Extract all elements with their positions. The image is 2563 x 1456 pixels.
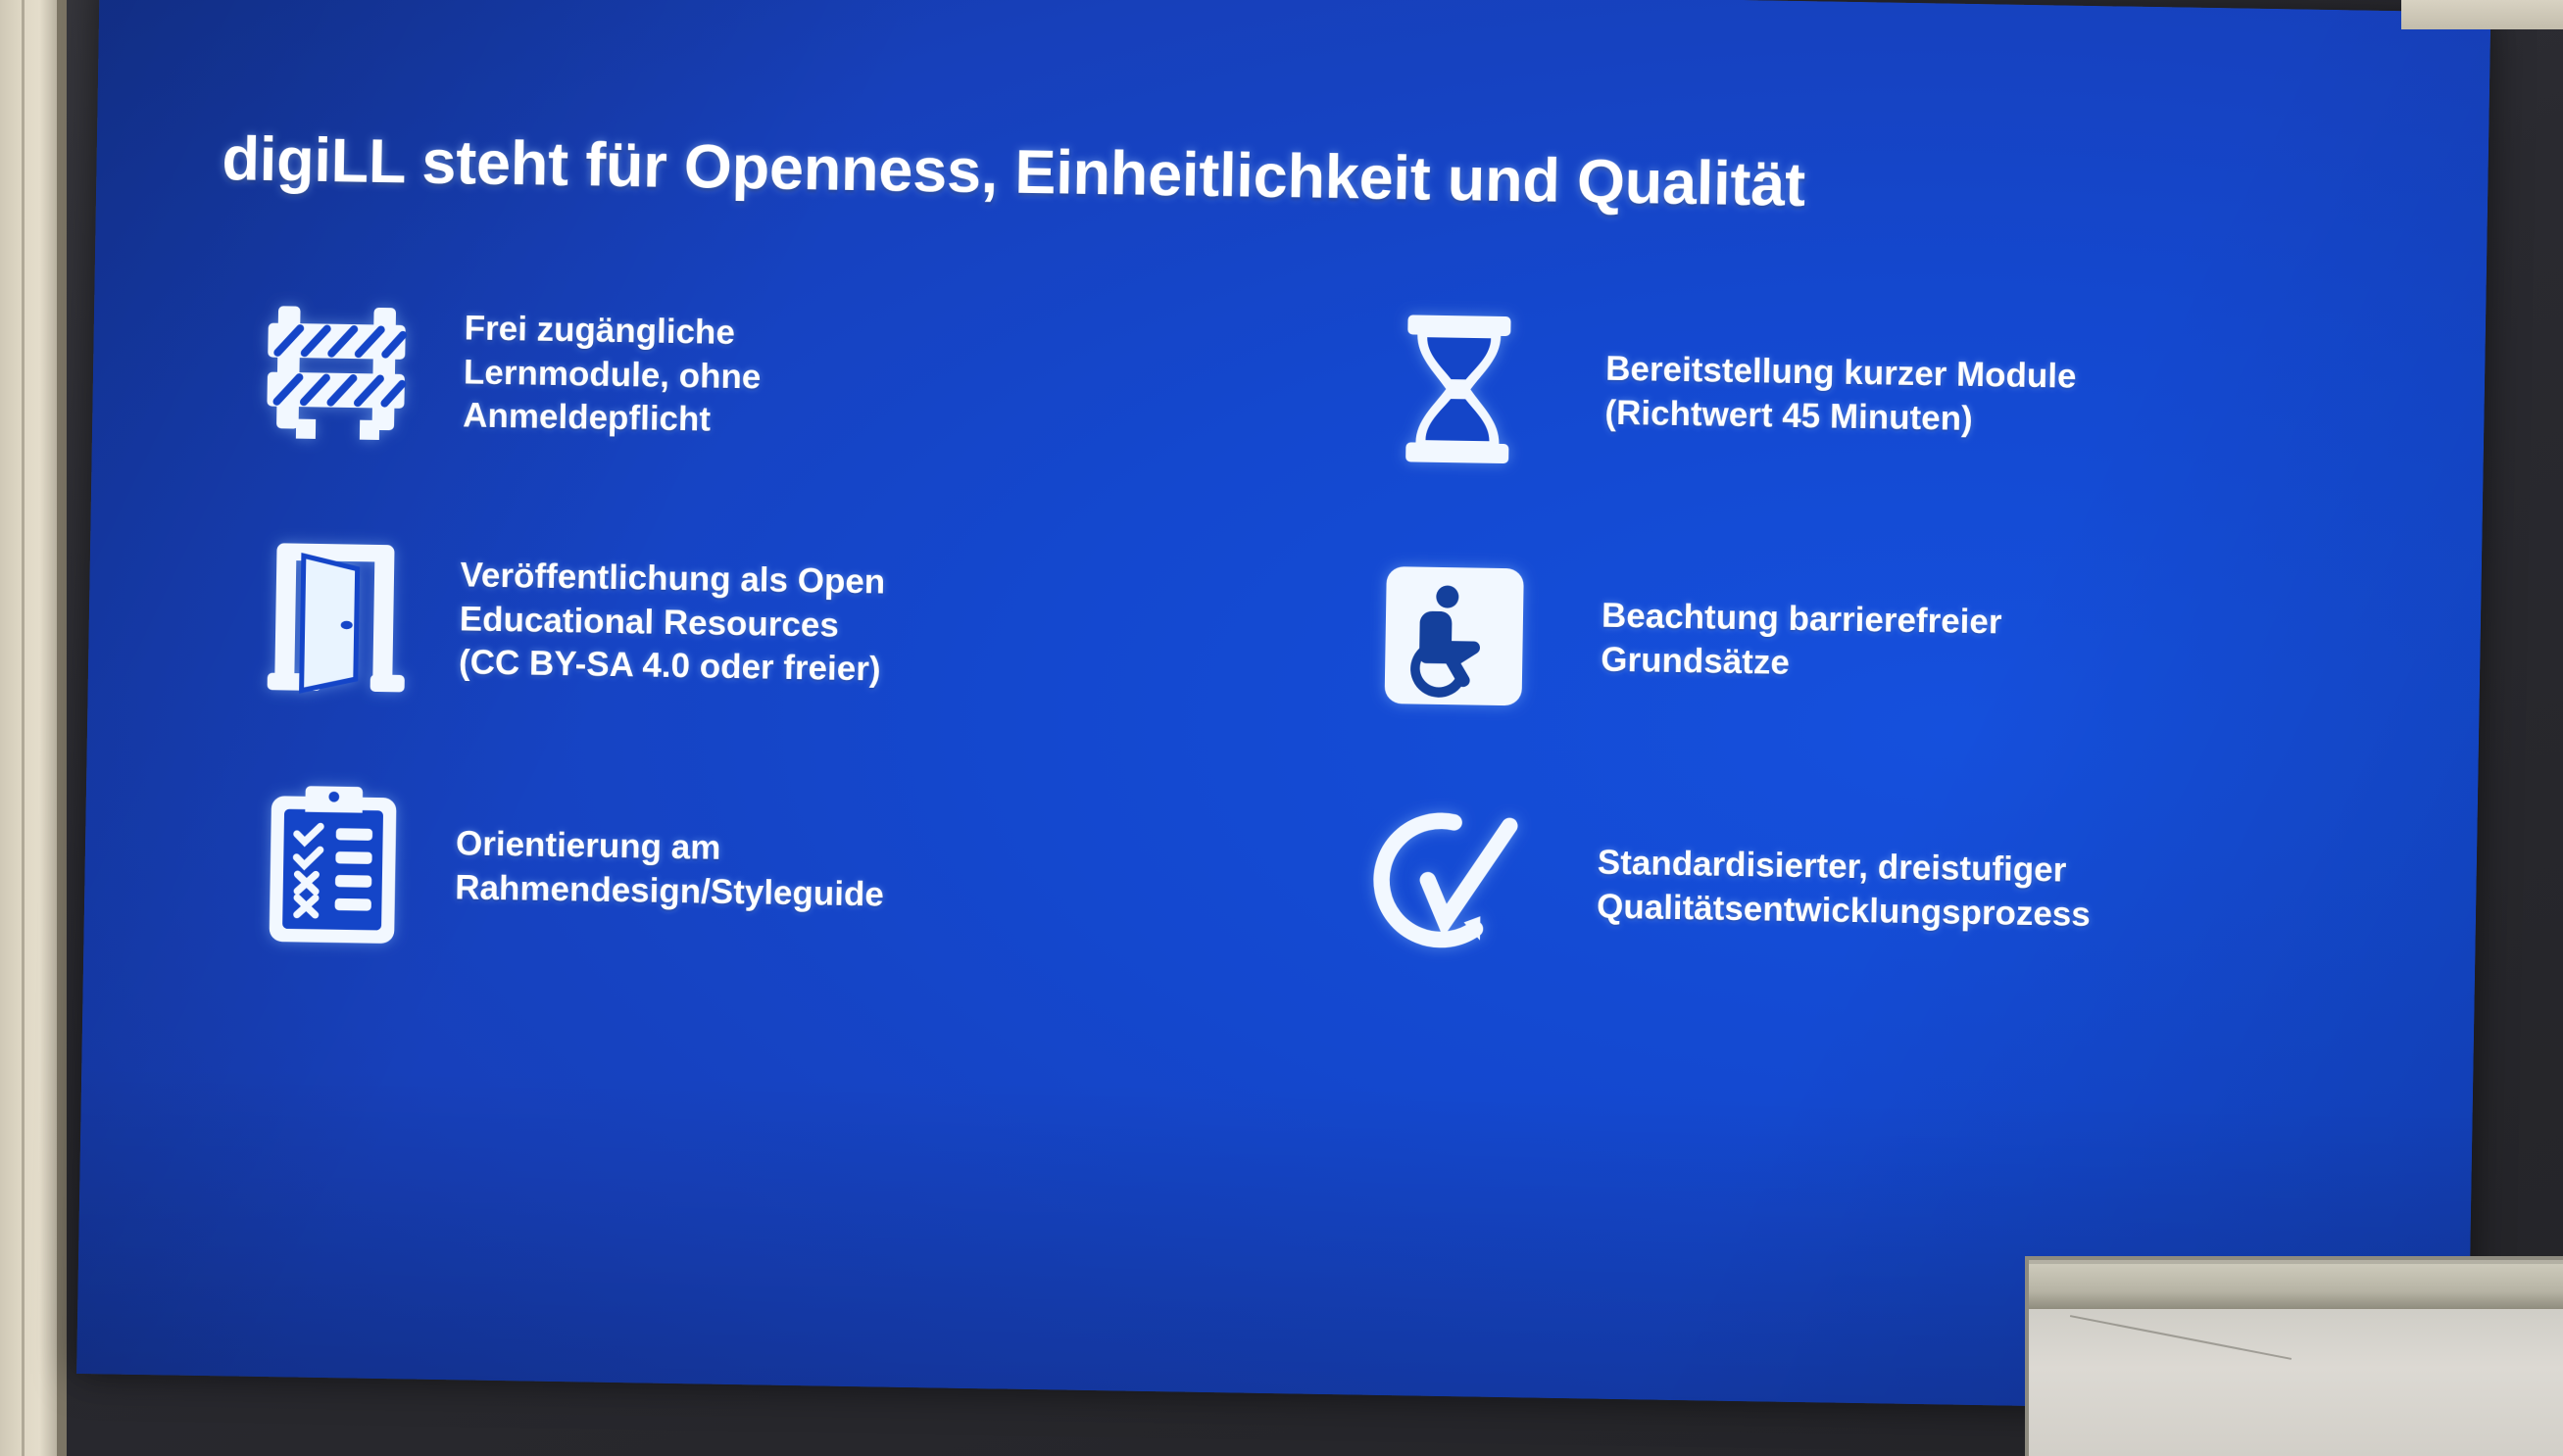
feature-text: Orientierung am Rahmendesign/Styleguide: [455, 823, 885, 918]
wall-gap-shadow: [57, 0, 67, 1456]
feature-text: Frei zugängliche Lernmodule, ohne Anmeld…: [463, 307, 763, 443]
feature-line: Qualitätsentwicklungsprozess: [1597, 886, 2091, 938]
feature-line: Rahmendesign/Styleguide: [455, 866, 884, 917]
feature-text: Beachtung barrierefreier Grundsätze: [1601, 595, 2002, 689]
ceiling-strip: [2401, 0, 2563, 29]
feature-line: Anmeldepflicht: [463, 395, 761, 444]
check-cycle-icon: [1302, 802, 1599, 964]
feature-item-free-access: Frei zugängliche Lernmodule, ohne Anmeld…: [217, 245, 1313, 510]
flipchart-board: [2025, 1256, 2563, 1456]
wheelchair-accessibility-icon: [1306, 560, 1602, 712]
construction-barrier-icon: [218, 295, 465, 446]
presentation-room-photo: digiLL steht für Openness, Einheitlichke…: [0, 0, 2563, 1456]
feature-line: Veröffentlichung als Open: [460, 554, 885, 605]
feature-text: Bereitstellung kurzer Module (Richtwert …: [1604, 348, 2077, 444]
open-door-icon: [214, 537, 462, 698]
feature-item-quality-process: Standardisierter, dreistufiger Qualitäts…: [1301, 757, 2397, 1022]
feature-item-short-modules: Bereitstellung kurzer Module (Richtwert …: [1309, 264, 2406, 528]
feature-item-accessibility: Beachtung barrierefreier Grundsätze: [1306, 510, 2402, 775]
page-title: digiLL steht für Openness, Einheitlichke…: [222, 123, 2379, 229]
feature-line: Frei zugängliche: [464, 307, 762, 356]
hourglass-icon: [1310, 309, 1607, 470]
feature-line: Beachtung barrierefreier: [1602, 595, 2002, 646]
feature-line: (Richtwert 45 Minuten): [1604, 392, 2076, 444]
feature-item-styleguide: Orientierung am Rahmendesign/Styleguide: [209, 739, 1306, 1003]
clipboard-checklist-icon: [209, 779, 457, 949]
flipchart-rail: [2029, 1264, 2563, 1309]
feature-line: Lernmodule, ohne: [464, 351, 762, 400]
feature-line: Bereitstellung kurzer Module: [1605, 348, 2077, 400]
feature-line: Grundsätze: [1601, 639, 2001, 690]
projected-slide: digiLL steht für Openness, Einheitlichke…: [76, 0, 2490, 1413]
feature-text: Standardisierter, dreistufiger Qualitäts…: [1597, 842, 2092, 938]
feature-line: Orientierung am: [456, 823, 885, 874]
feature-line: Educational Resources: [459, 598, 884, 649]
wall-left-strip: [0, 0, 57, 1456]
feature-line: (CC BY-SA 4.0 oder freier): [459, 642, 884, 693]
feature-grid: Frei zugängliche Lernmodule, ohne Anmeld…: [209, 245, 2406, 1022]
flipchart-paper-crease: [2070, 1315, 2292, 1360]
wall-seam: [22, 0, 25, 1456]
feature-item-oer: Veröffentlichung als Open Educational Re…: [213, 492, 1309, 756]
slide-content: digiLL steht für Openness, Einheitlichke…: [76, 0, 2490, 1413]
feature-text: Veröffentlichung als Open Educational Re…: [459, 554, 886, 693]
